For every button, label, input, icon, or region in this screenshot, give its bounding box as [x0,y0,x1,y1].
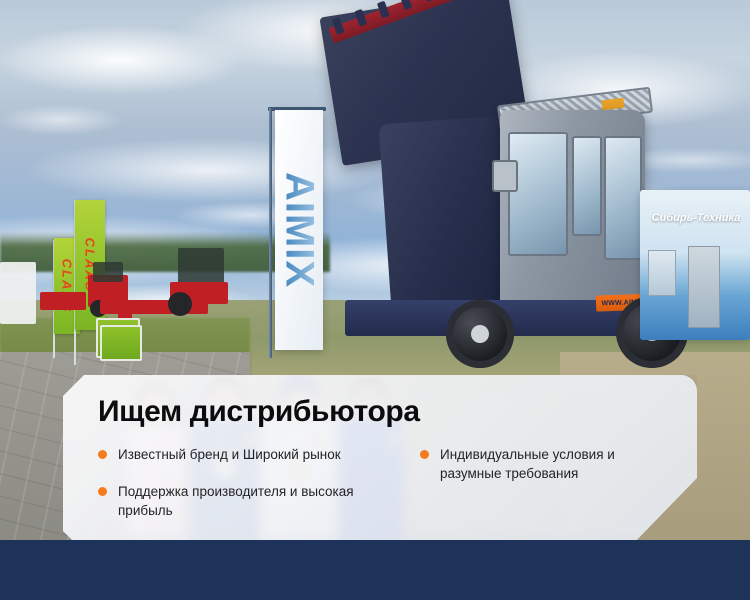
aimix-banner-pole [269,108,272,358]
benefit-text: Индивидуальные условия и разумные требов… [440,445,670,483]
benefits-column-left: Известный бренд и Широкий рынок Поддержк… [98,445,398,520]
benefits-column-right: Индивидуальные условия и разумные требов… [420,445,670,520]
benefit-item: Известный бренд и Широкий рынок [98,445,398,464]
operator-cab [500,110,645,325]
benefit-text: Известный бренд и Широкий рынок [118,445,341,464]
trailer-window [648,250,676,296]
aimix-banner: AIMIX [275,110,323,350]
mixer-drum [379,116,512,314]
info-board [100,325,142,361]
tractor-wheel [168,292,192,316]
distributor-card: Ищем дистрибьютора Известный бренд и Шир… [63,375,697,545]
promo-banner: CLAAS CLAAS AIMIX [0,0,750,600]
tractor-red [40,292,86,310]
bottom-navy-bar [0,540,750,600]
benefit-item: Поддержка производителя и высокая прибыл… [98,482,398,520]
bullet-dot-icon [420,450,429,459]
aimix-logo-text: AIMIX [277,172,322,288]
cab-windshield [508,132,568,256]
cab-door-window [604,136,642,260]
cab-side-window [572,136,602,236]
benefits-columns: Известный бренд и Широкий рынок Поддержк… [98,445,683,520]
bullet-dot-icon [98,487,107,496]
card-title: Ищем дистрибьютора [98,395,420,429]
mixer-wheel [446,300,514,368]
booth [0,262,36,324]
cab-mirror [492,160,518,192]
tractor-cab [178,248,224,286]
bullet-dot-icon [98,450,107,459]
trailer-label: Сибирь-Техника [646,212,746,224]
benefit-text: Поддержка производителя и высокая прибыл… [118,482,398,520]
benefit-item: Индивидуальные условия и разумные требов… [420,445,670,483]
tractor-cab [93,262,123,282]
trailer-door [688,246,720,328]
